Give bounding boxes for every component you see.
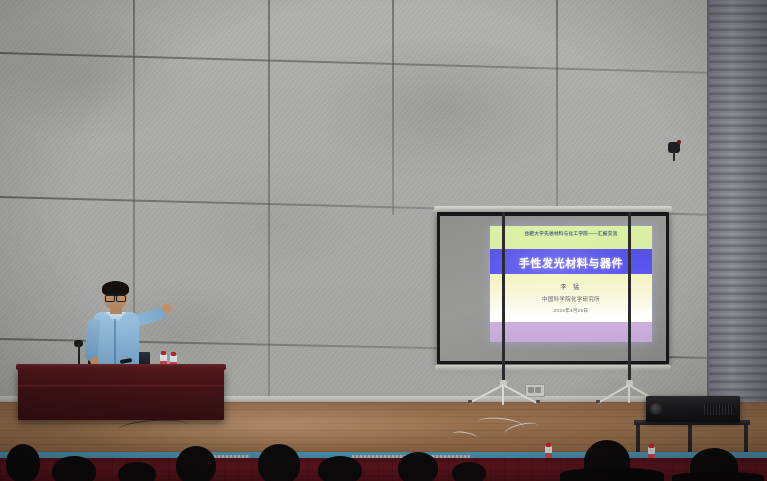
tripod-pole	[628, 212, 631, 384]
roller-shutter-panel	[707, 0, 767, 440]
tripod-foot	[468, 400, 472, 403]
audience-head	[176, 446, 216, 481]
podium-table	[18, 368, 224, 420]
bottle-cap	[649, 444, 654, 448]
audience-head	[452, 462, 486, 481]
wall-seam-vertical	[268, 0, 270, 430]
screen-tripod-left	[470, 364, 550, 412]
wall-seam-vertical	[392, 0, 394, 215]
bottle-cap	[546, 443, 551, 447]
glasses-icon	[105, 294, 126, 300]
projector-vent	[704, 404, 734, 415]
audience-head	[398, 452, 438, 481]
audience-shoulders	[672, 472, 764, 481]
audience-shoulders	[560, 468, 664, 481]
tripod-leg	[469, 384, 503, 404]
audience-head	[318, 456, 362, 481]
audience-head	[118, 462, 156, 481]
projector-lens-icon	[650, 403, 663, 415]
audience-head	[6, 444, 40, 481]
shirt-placket	[114, 319, 116, 365]
video-projector	[646, 396, 740, 422]
podium-trim	[18, 385, 224, 388]
tripod-leg	[502, 385, 504, 405]
wall-seam-vertical	[556, 0, 558, 212]
bracket-arm	[673, 152, 675, 161]
projection-screen: 合肥大学先进材料与化工学院——汇报交流 手性发光材料与器件 李 猛 中国科学院化…	[437, 212, 669, 364]
audience-head	[258, 444, 300, 481]
audience-head	[52, 456, 96, 481]
tripod-pole	[502, 212, 505, 384]
tripod-leg	[503, 384, 537, 404]
tripod-foot	[536, 400, 540, 403]
lecture-hall-photo: 合肥大学先进材料与化工学院——汇报交流 手性发光材料与器件 李 猛 中国科学院化…	[0, 0, 767, 481]
bracket-indicator	[677, 140, 681, 144]
presenter	[78, 283, 170, 375]
wall-camera-bracket-icon	[666, 140, 682, 160]
tripod-leg	[597, 384, 629, 404]
presenter-right-hand	[162, 304, 172, 313]
shutter-shading	[709, 0, 767, 440]
tripod-foot	[596, 400, 600, 403]
bottle-cap	[171, 352, 176, 356]
tripod-leg	[628, 385, 630, 403]
